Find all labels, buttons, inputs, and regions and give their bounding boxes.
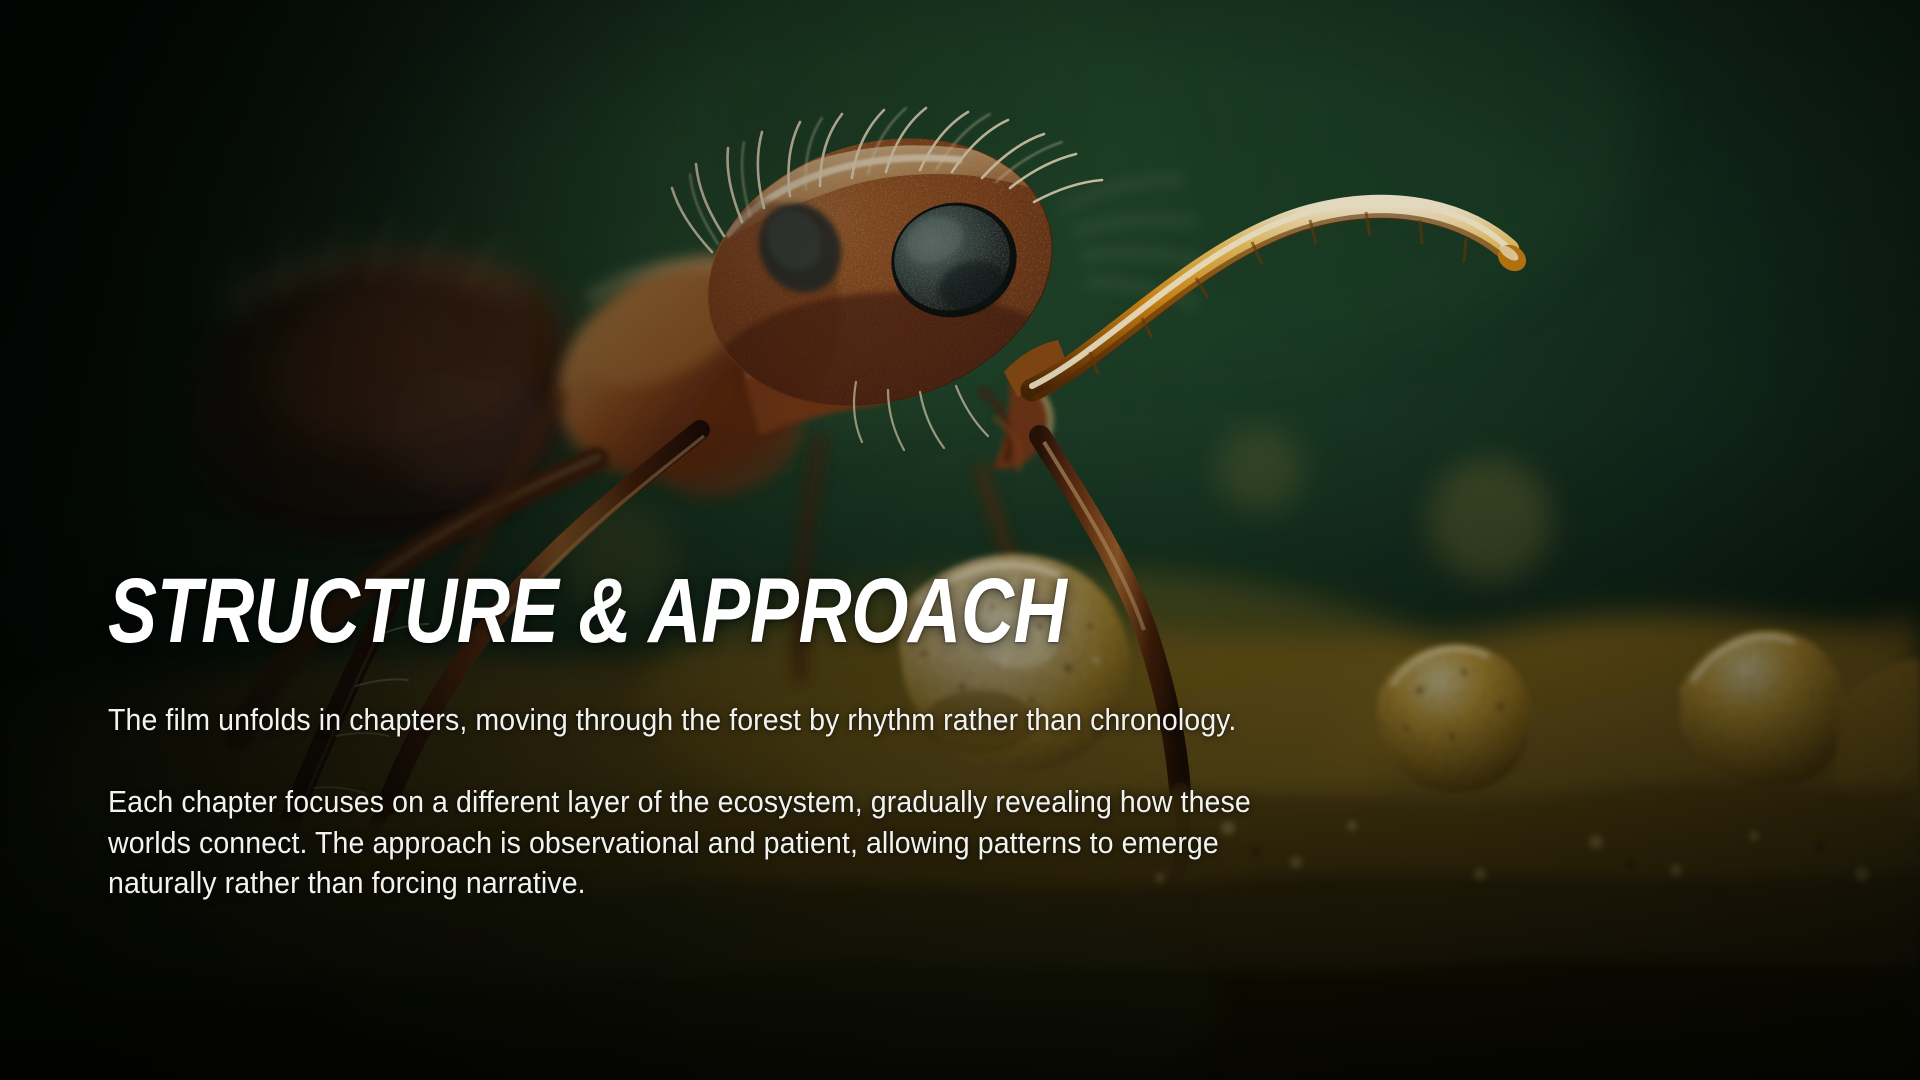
slide-text-block: STRUCTURE & APPROACH The film unfolds in… <box>108 566 1398 903</box>
background-photo-ant-macro <box>0 0 1920 1080</box>
slide-paragraph-lead: The film unfolds in chapters, moving thr… <box>108 700 1295 740</box>
presentation-slide: STRUCTURE & APPROACH The film unfolds in… <box>0 0 1920 1080</box>
slide-paragraph-body: Each chapter focuses on a different laye… <box>108 782 1295 903</box>
slide-title: STRUCTURE & APPROACH <box>108 566 1140 656</box>
